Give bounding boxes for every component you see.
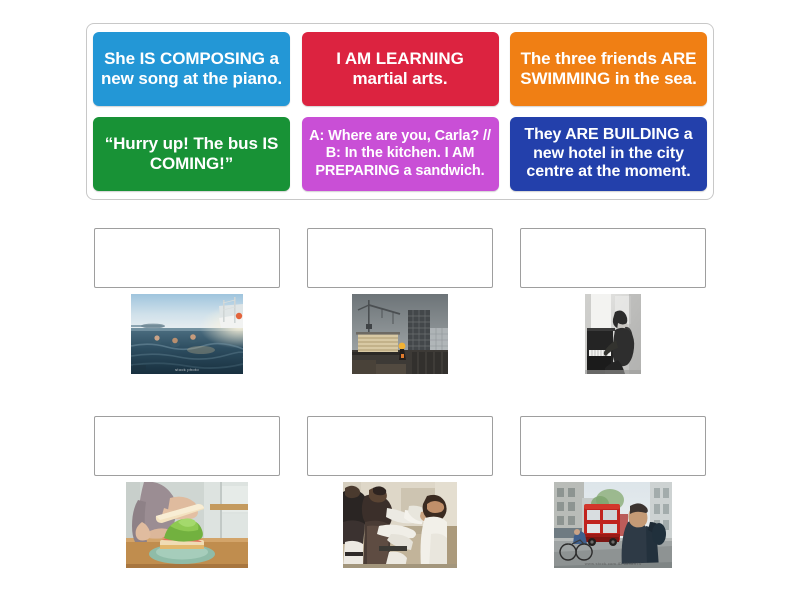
image-watermark: stock photo (131, 367, 243, 372)
image-watermark: www.stock.com ID 6898974 (554, 561, 672, 566)
tile-label: The three friends ARE SWIMMING in the se… (515, 49, 702, 89)
tile-i-am-learning[interactable]: I AM LEARNING martial arts. (302, 32, 499, 106)
answer-cell-3 (507, 228, 720, 374)
activity-canvas: She IS COMPOSING a new song at the piano… (0, 0, 800, 600)
answer-cell-5 (294, 416, 507, 568)
answer-row-1: stock photo (0, 228, 800, 374)
dropzone-1[interactable] (94, 228, 280, 288)
answer-cell-6: www.stock.com ID 6898974 (507, 416, 720, 568)
image-swimming-in-the-sea: stock photo (131, 294, 243, 374)
image-red-bus-in-city-street: www.stock.com ID 6898974 (554, 482, 672, 568)
tile-three-friends-are-swimming[interactable]: The three friends ARE SWIMMING in the se… (510, 32, 707, 106)
tile-i-am-preparing-a-sandwich[interactable]: A: Where are you, Carla? // B: In the ki… (302, 117, 499, 191)
tile-bus-is-coming[interactable]: “Hurry up! The bus IS COMING!” (93, 117, 290, 191)
word-bank-panel: She IS COMPOSING a new song at the piano… (86, 23, 714, 200)
image-woman-playing-piano (585, 294, 641, 374)
dropzone-4[interactable] (94, 416, 280, 476)
tile-label: I AM LEARNING martial arts. (307, 49, 494, 89)
word-bank-row-1: She IS COMPOSING a new song at the piano… (93, 32, 707, 106)
tile-she-is-composing[interactable]: She IS COMPOSING a new song at the piano… (93, 32, 290, 106)
tile-label: She IS COMPOSING a new song at the piano… (98, 49, 285, 89)
answer-row-2: www.stock.com ID 6898974 (0, 416, 800, 568)
dropzone-6[interactable] (520, 416, 706, 476)
tile-they-are-building[interactable]: They ARE BUILDING a new hotel in the cit… (510, 117, 707, 191)
image-martial-arts-class (343, 482, 457, 568)
image-making-a-sandwich (126, 482, 248, 568)
image-construction-site (352, 294, 448, 374)
answer-cell-2 (294, 228, 507, 374)
tile-label: They ARE BUILDING a new hotel in the cit… (515, 126, 702, 183)
word-bank-row-2: “Hurry up! The bus IS COMING!” A: Where … (93, 117, 707, 191)
tile-label: A: Where are you, Carla? // B: In the ki… (307, 128, 494, 179)
dropzone-3[interactable] (520, 228, 706, 288)
tile-label: “Hurry up! The bus IS COMING!” (98, 134, 285, 174)
answer-cell-4 (81, 416, 294, 568)
dropzone-2[interactable] (307, 228, 493, 288)
answer-cell-1: stock photo (81, 228, 294, 374)
dropzone-5[interactable] (307, 416, 493, 476)
